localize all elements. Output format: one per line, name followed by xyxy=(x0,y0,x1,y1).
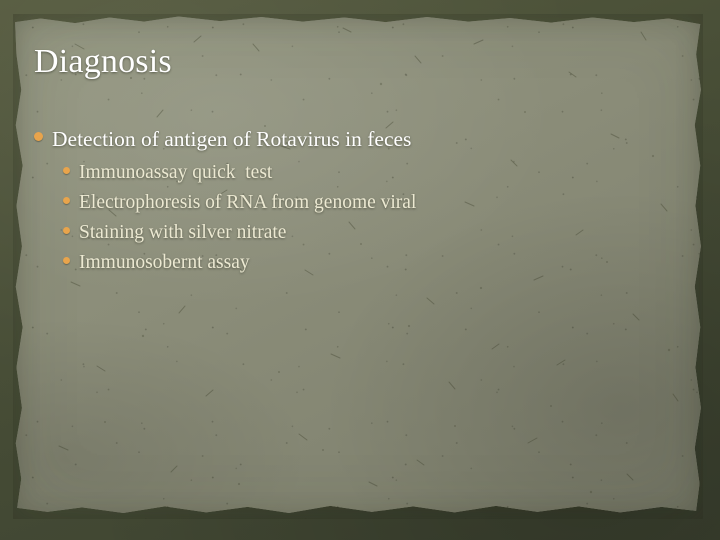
list-item-label: Immunoassay quick test xyxy=(79,158,272,188)
list-item-label: Detection of antigen of Rotavirus in fec… xyxy=(52,124,411,155)
list-item: Detection of antigen of Rotavirus in fec… xyxy=(34,124,690,155)
slide-content: Diagnosis Detection of antigen of Rotavi… xyxy=(0,0,720,540)
orange-dot-bullet-icon xyxy=(63,197,70,204)
list-item: Staining with silver nitrate xyxy=(63,218,690,248)
list-item-label: Staining with silver nitrate xyxy=(79,218,286,248)
slide: Diagnosis Detection of antigen of Rotavi… xyxy=(0,0,720,540)
page-title: Diagnosis xyxy=(34,42,172,82)
bullet-list: Detection of antigen of Rotavirus in fec… xyxy=(34,124,690,278)
orange-dot-bullet-icon xyxy=(63,167,70,174)
orange-dot-bullet-icon xyxy=(63,227,70,234)
list-item: Electrophoresis of RNA from genome viral xyxy=(63,188,690,218)
list-item: Immunoassay quick test xyxy=(63,158,690,188)
list-item: Immunosobernt assay xyxy=(63,248,690,278)
orange-dot-bullet-icon xyxy=(63,257,70,264)
orange-dot-bullet-icon xyxy=(34,132,43,141)
list-item-label: Immunosobernt assay xyxy=(79,248,250,278)
list-item-label: Electrophoresis of RNA from genome viral xyxy=(79,188,416,218)
